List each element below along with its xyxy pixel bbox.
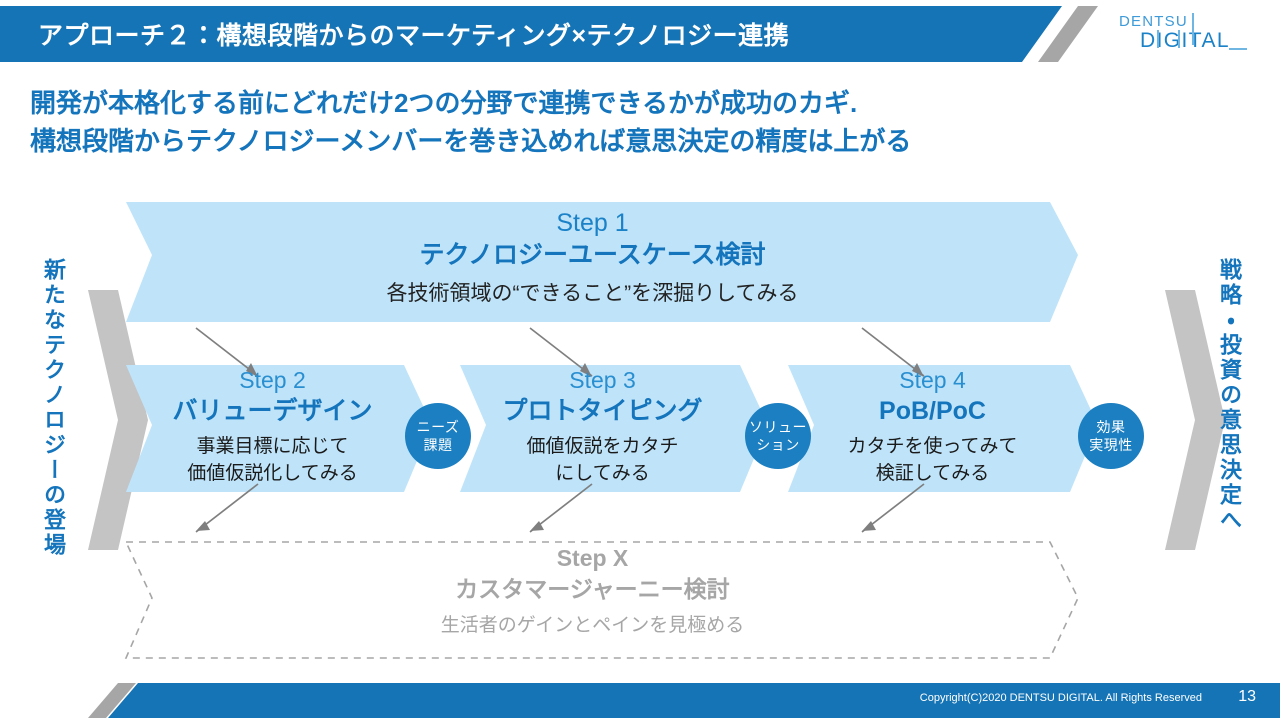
step1-content: Step 1 テクノロジーユースケース検討 各技術領域の“できること”を深掘りし… xyxy=(140,208,1045,312)
step2-description-line-1: 事業目標に応じて xyxy=(140,433,405,460)
step4-step-label: Step 4 xyxy=(800,365,1065,395)
logo-text-dentsu: DENTSU xyxy=(1119,14,1188,29)
badge-needs: ニーズ 課題 xyxy=(405,403,471,469)
step3-content: Step 3 プロトタイピング 価値仮説をカタチ にしてみる xyxy=(470,365,735,487)
step4-description-line-1: カタチを使ってみて xyxy=(800,433,1065,460)
step1-step-label: Step 1 xyxy=(140,208,1045,238)
page-title: アプローチ２：構想段階からのマーケティング×テクノロジー連携 xyxy=(38,16,789,52)
logo-underline xyxy=(1229,48,1247,50)
logo-accent-bar-2 xyxy=(1157,30,1159,48)
step4-content: Step 4 PoB/PoC カタチを使ってみて 検証してみる xyxy=(800,365,1065,487)
step1-description: 各技術領域の“できること”を深掘りしてみる xyxy=(140,276,1045,312)
left-progress-arrow xyxy=(88,290,148,550)
step4-title: PoB/PoC xyxy=(800,395,1065,427)
step2-content: Step 2 バリューデザイン 事業目標に応じて 価値仮説化してみる xyxy=(140,365,405,487)
step4-description-line-2: 検証してみる xyxy=(800,460,1065,487)
stepx-description: 生活者のゲインとペインを見極める xyxy=(140,609,1045,643)
step3-description-line-1: 価値仮説をカタチ xyxy=(470,433,735,460)
stepx-title: カスタマージャーニー検討 xyxy=(140,573,1045,605)
step2-title: バリューデザイン xyxy=(140,395,405,427)
logo-accent-bar-1 xyxy=(1192,13,1194,45)
step1-title: テクノロジーユースケース検討 xyxy=(140,238,1045,272)
slide-canvas: アプローチ２：構想段階からのマーケティング×テクノロジー連携 DENTSU DI… xyxy=(0,0,1280,721)
badge-solution-line-1: ソリュー xyxy=(749,418,807,436)
subtitle-line-1: 開発が本格化する前にどれだけ2つの分野で連携できるかが成功のカギ. xyxy=(30,84,911,122)
badge-needs-line-1: ニーズ xyxy=(417,418,460,436)
subtitle-line-2: 構想段階からテクノロジーメンバーを巻き込めれば意思決定の精度は上がる xyxy=(30,122,911,160)
copyright-text: Copyright(C)2020 DENTSU DIGITAL. All Rig… xyxy=(920,692,1202,704)
step3-title: プロトタイピング xyxy=(470,395,735,427)
right-progress-arrow xyxy=(1165,290,1225,550)
left-side-label: 新たなテクノロジーの登場 xyxy=(42,258,64,558)
badge-needs-line-2: 課題 xyxy=(424,436,453,454)
right-side-label: 戦略・投資の意思決定へ xyxy=(1218,258,1240,533)
slide-header: アプローチ２：構想段階からのマーケティング×テクノロジー連携 DENTSU DI… xyxy=(0,0,1280,68)
step3-description-line-2: にしてみる xyxy=(470,460,735,487)
stepx-step-label: Step X xyxy=(140,543,1045,573)
page-number: 13 xyxy=(1238,688,1256,706)
stepx-connector-heads xyxy=(196,521,876,531)
dentsu-digital-logo: DENTSU DIGITAL xyxy=(1112,12,1252,56)
logo-text-digital: DIGITAL xyxy=(1140,30,1230,51)
logo-accent-bar-3 xyxy=(1178,30,1180,48)
slide-subtitle: 開発が本格化する前にどれだけ2つの分野で連携できるかが成功のカギ. 構想段階から… xyxy=(30,84,911,160)
stepx-content: Step X カスタマージャーニー検討 生活者のゲインとペインを見極める xyxy=(140,543,1045,643)
badge-solution: ソリュー ション xyxy=(745,403,811,469)
badge-solution-line-2: ション xyxy=(756,436,800,454)
step2-description-line-2: 価値仮説化してみる xyxy=(140,460,405,487)
badge-effect-line-2: 実現性 xyxy=(1089,436,1133,454)
process-diagram: 新たなテクノロジーの登場 戦略・投資の意思決定へ Step 1 テクノロジーユー… xyxy=(0,180,1280,680)
step3-step-label: Step 3 xyxy=(470,365,735,395)
step2-step-label: Step 2 xyxy=(140,365,405,395)
badge-effect-line-1: 効果 xyxy=(1097,418,1126,436)
badge-effect: 効果 実現性 xyxy=(1078,403,1144,469)
slide-footer: Copyright(C)2020 DENTSU DIGITAL. All Rig… xyxy=(0,676,1280,721)
